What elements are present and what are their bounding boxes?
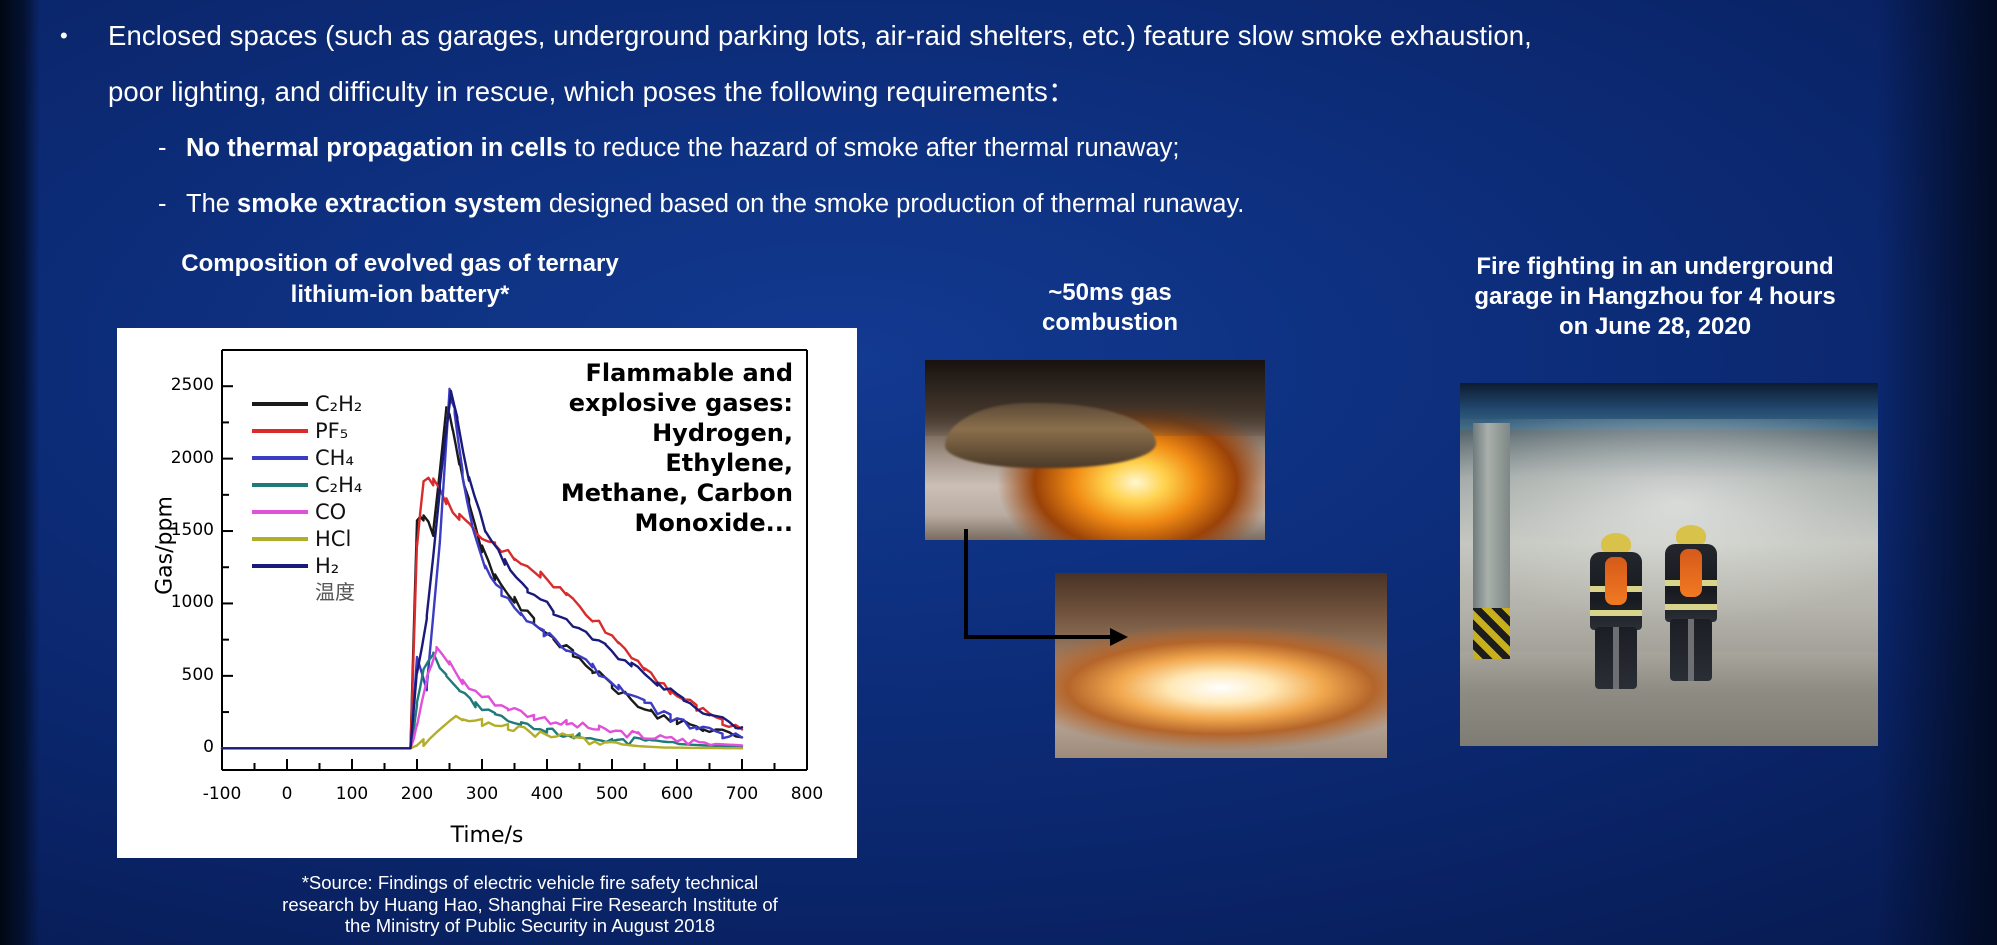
right-caption: Fire fighting in an underground garage i… [1440, 252, 1870, 342]
bullet-rest-1: to reduce the hazard of smoke after ther… [567, 134, 1179, 162]
bullet-level1-line1: • Enclosed spaces (such as garages, unde… [60, 8, 1920, 64]
photo-hazard-stripe [1473, 608, 1511, 659]
reflective-stripe [1665, 604, 1717, 610]
legend-label-temperature: 温度 [315, 576, 362, 605]
bullet-list: • Enclosed spaces (such as garages, unde… [60, 8, 1920, 232]
right-caption-line3: on June 28, 2020 [1440, 312, 1870, 342]
slide-canvas: • Enclosed spaces (such as garages, unde… [0, 0, 1997, 945]
legend-label: C₂H₄ [315, 473, 362, 497]
legend-swatch [252, 510, 308, 514]
legend-swatch [252, 456, 308, 460]
legend-item-C2H4: C₂H₄ [252, 471, 362, 498]
firefighters-in-smoky-garage-photo [1460, 383, 1878, 746]
legend-item-CO: CO [252, 498, 362, 525]
chart-source-note: *Source: Findings of electric vehicle fi… [250, 872, 810, 937]
legend-swatch [252, 564, 308, 568]
bullet-marker-dot: • [60, 8, 108, 64]
chart-title: Composition of evolved gas of ternary li… [150, 248, 650, 310]
right-caption-line1: Fire fighting in an underground [1440, 252, 1870, 282]
middle-caption-line1: ~50ms gas [975, 278, 1245, 308]
legend-label: CO [315, 500, 346, 524]
legend-swatch [252, 537, 308, 541]
legend-swatch [252, 429, 308, 433]
legend-label: H₂ [315, 554, 339, 578]
bullet-text-1a: Enclosed spaces (such as garages, underg… [108, 8, 1920, 64]
bullet-text-2a: No thermal propagation in cells to reduc… [186, 120, 1920, 176]
firefighter-legs [1670, 619, 1712, 681]
bullet-marker-dash-2: - [158, 176, 186, 232]
bullet-level2-item1: - No thermal propagation in cells to red… [158, 120, 1920, 176]
bullet-text-1b: poor lighting, and difficulty in rescue,… [108, 64, 1920, 120]
photo-floor [1460, 652, 1878, 746]
legend-label: HCl [315, 527, 351, 551]
legend-swatch [252, 402, 308, 406]
source-line-3: the Ministry of Public Security in Augus… [250, 915, 810, 937]
bullet-rest-2: designed based on the smoke production o… [542, 190, 1245, 218]
air-tank [1605, 557, 1627, 605]
bullet-prefix-2: The [186, 190, 237, 218]
flow-arrow [960, 525, 1160, 655]
chart-series-HCl [222, 716, 742, 748]
legend-swatch [252, 483, 308, 487]
middle-caption-line2: combustion [975, 308, 1245, 338]
battery-pack-ignition-photo [925, 360, 1265, 540]
legend-label: PF₅ [315, 419, 348, 443]
legend-item-PF5: PF₅ [252, 417, 362, 444]
air-tank [1680, 549, 1702, 597]
firefighter-legs [1595, 627, 1637, 689]
legend-label: CH₄ [315, 446, 354, 470]
gas-composition-chart: Flammable and explosive gases: Hydrogen,… [117, 328, 857, 858]
legend-item-CH4: CH₄ [252, 444, 362, 471]
legend-label: C₂H₂ [315, 392, 362, 416]
chart-legend: C₂H₂PF₅CH₄C₂H₄COHClH₂温度 [252, 390, 362, 605]
chart-series-C2H4 [222, 653, 742, 749]
legend-item-H2: H₂ [252, 552, 362, 579]
reflective-stripe [1590, 610, 1642, 616]
source-line-2: research by Huang Hao, Shanghai Fire Res… [250, 894, 810, 916]
bullet-text-2b: The smoke extraction system designed bas… [186, 176, 1920, 232]
bullet-emphasis-smoke-extraction-system: smoke extraction system [237, 190, 542, 218]
right-caption-line2: garage in Hangzhou for 4 hours [1440, 282, 1870, 312]
bullet-emphasis-no-thermal-propagation: No thermal propagation in cells [186, 134, 567, 162]
source-line-1: *Source: Findings of electric vehicle fi… [250, 872, 810, 894]
bullet-level2-item2: - The smoke extraction system designed b… [158, 176, 1920, 232]
chart-title-line2: lithium-ion battery* [150, 279, 650, 310]
legend-item-HCl: HCl [252, 525, 362, 552]
legend-item-C2H2: C₂H₂ [252, 390, 362, 417]
chart-plot-area [117, 328, 857, 858]
bullet-level1-line2: poor lighting, and difficulty in rescue,… [60, 64, 1920, 120]
chart-title-line1: Composition of evolved gas of ternary [150, 248, 650, 279]
bullet-marker-dash-1: - [158, 120, 186, 176]
chart-series-CO [222, 647, 742, 748]
middle-caption: ~50ms gas combustion [975, 278, 1245, 338]
